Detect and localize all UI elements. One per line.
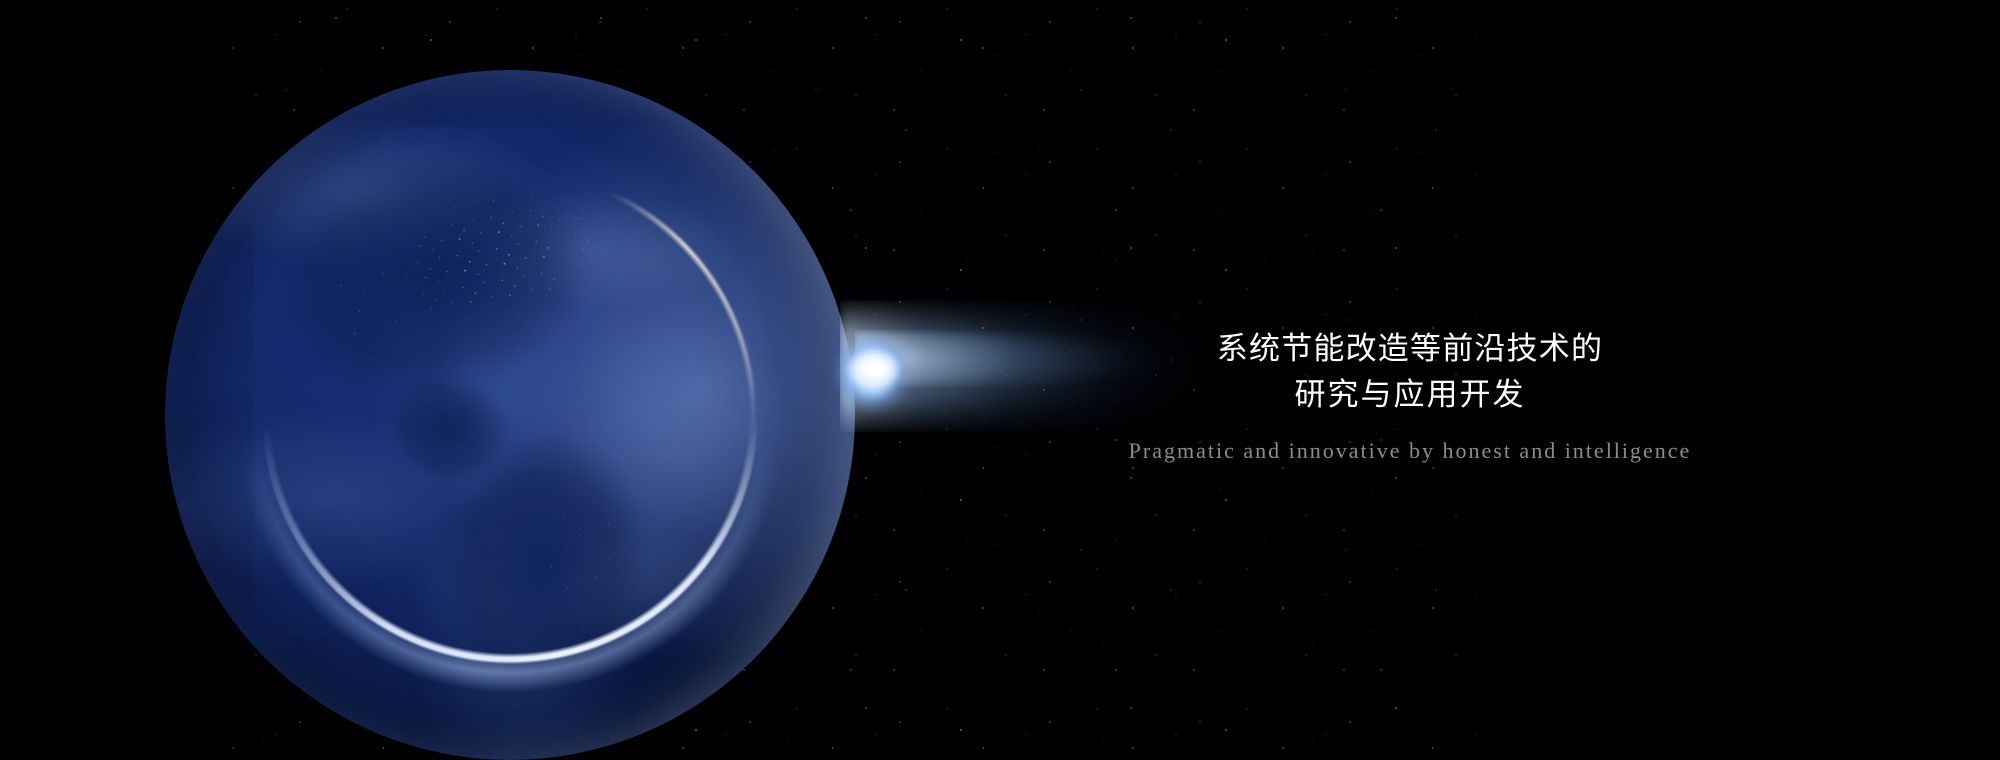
hero-headline-line2: 研究与应用开发 <box>1090 372 1730 418</box>
atmosphere-warm-highlight <box>163 68 857 760</box>
hero-text-block: 系统节能改造等前沿技术的 研究与应用开发 Pragmatic and innov… <box>1090 326 1730 464</box>
hero-banner: 系统节能改造等前沿技术的 研究与应用开发 Pragmatic and innov… <box>0 0 2000 760</box>
hero-headline-line1: 系统节能改造等前沿技术的 <box>1090 326 1730 372</box>
earth-night-globe <box>165 70 855 760</box>
comet-sparkles <box>845 336 995 410</box>
hero-subtitle: Pragmatic and innovative by honest and i… <box>1090 438 1730 464</box>
